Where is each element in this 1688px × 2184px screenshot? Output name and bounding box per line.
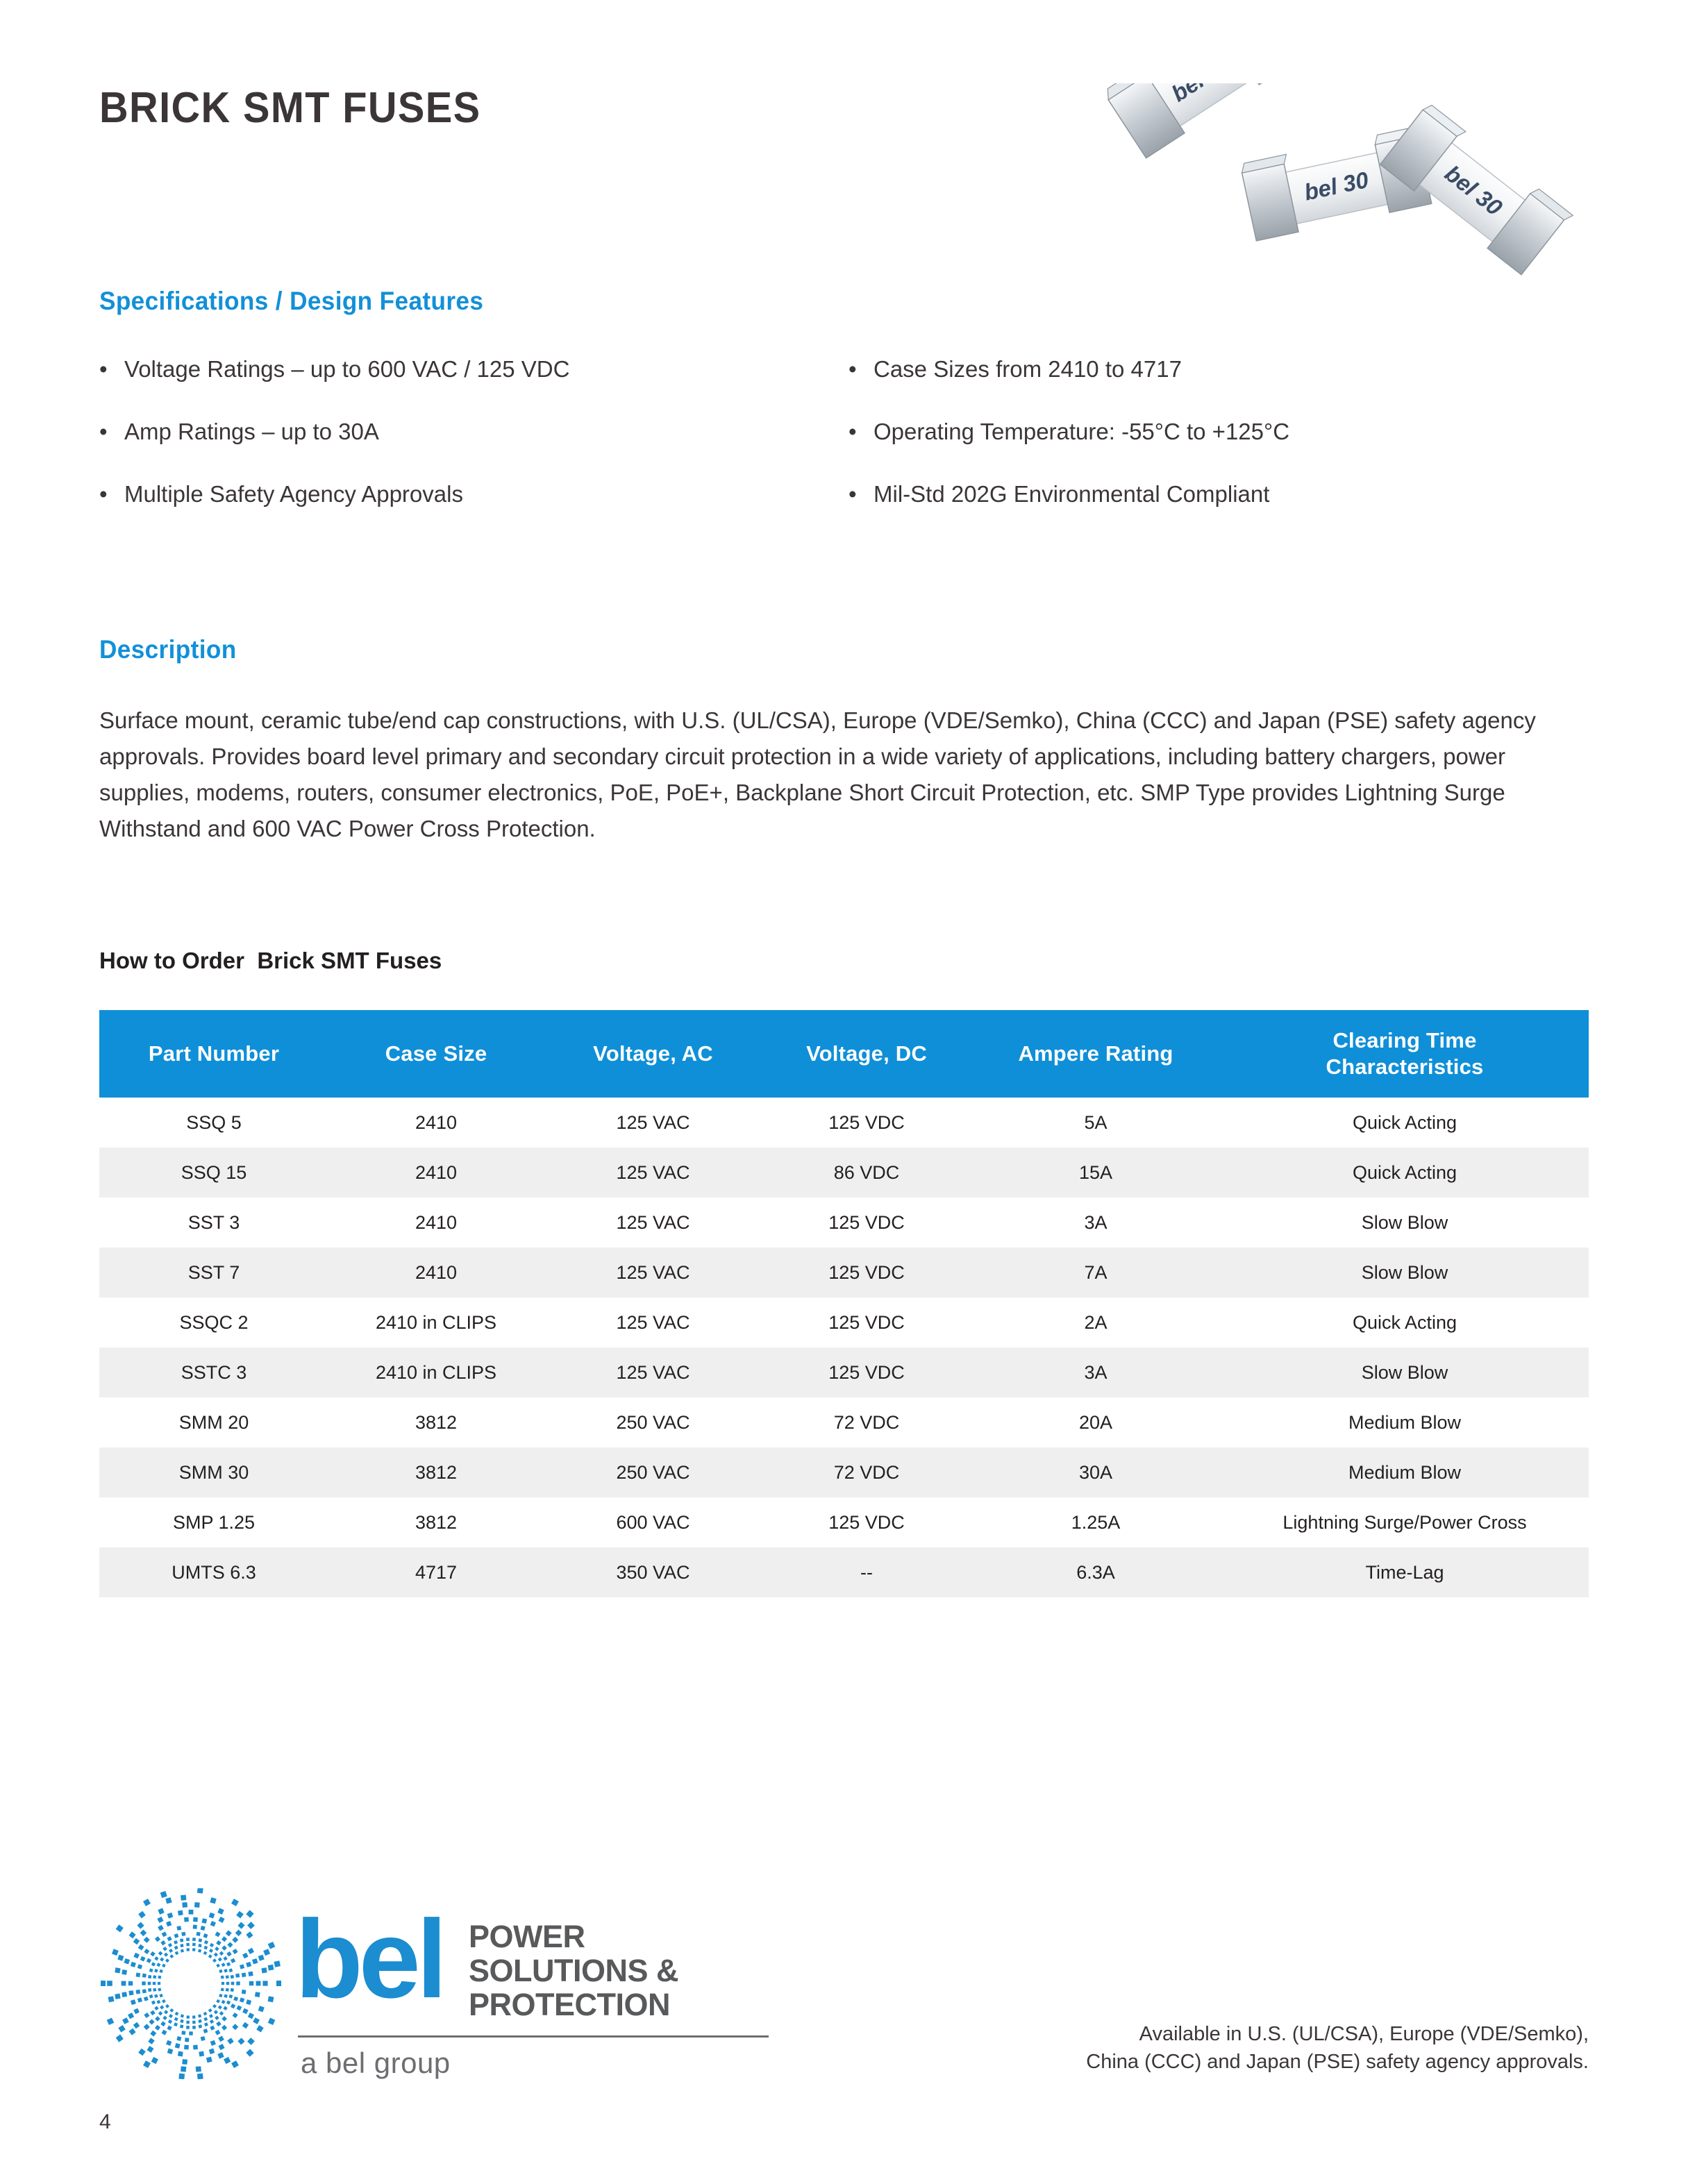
cell-voltage-ac: 350 VAC <box>544 1547 762 1597</box>
description-body: Surface mount, ceramic tube/end cap cons… <box>99 703 1592 847</box>
bullet-icon: • <box>99 355 108 383</box>
cell-ampere-rating: 15A <box>971 1148 1221 1198</box>
cell-voltage-dc: 125 VDC <box>762 1098 971 1148</box>
cell-ampere-rating: 20A <box>971 1397 1221 1447</box>
cell-case-size: 2410 <box>328 1248 544 1297</box>
cell-clearing-time: Quick Acting <box>1221 1098 1589 1148</box>
cell-clearing-time: Medium Blow <box>1221 1397 1589 1447</box>
cell-case-size: 2410 <box>328 1148 544 1198</box>
column-header-clearing-time: Clearing Time Characteristics <box>1221 1010 1589 1098</box>
cell-part-number: SMP 1.25 <box>99 1497 328 1547</box>
column-header-voltage-ac: Voltage, AC <box>544 1010 762 1098</box>
cell-voltage-dc: 125 VDC <box>762 1497 971 1547</box>
column-header-voltage-dc: Voltage, DC <box>762 1010 971 1098</box>
table-row: SSTC 32410 in CLIPS125 VAC125 VDC3ASlow … <box>99 1347 1589 1397</box>
bel-mosaic-mark-icon <box>101 1888 281 2079</box>
product-photo: bel 30 bel 30 bel 30 <box>1073 83 1621 312</box>
cell-clearing-time: Time-Lag <box>1221 1547 1589 1597</box>
list-item: •Multiple Safety Agency Approvals <box>99 480 569 508</box>
specifications-heading: Specifications / Design Features <box>99 287 483 316</box>
cell-voltage-ac: 125 VAC <box>544 1248 762 1297</box>
cell-voltage-dc: 72 VDC <box>762 1397 971 1447</box>
list-item-label: Voltage Ratings – up to 600 VAC / 125 VD… <box>124 356 569 382</box>
cell-clearing-time: Medium Blow <box>1221 1447 1589 1497</box>
bullet-icon: • <box>849 480 857 508</box>
cell-case-size: 2410 <box>328 1098 544 1148</box>
list-item-label: Case Sizes from 2410 to 4717 <box>874 356 1182 382</box>
table-row: UMTS 6.34717350 VAC--6.3ATime-Lag <box>99 1547 1589 1597</box>
list-item: •Mil-Std 202G Environmental Compliant <box>849 480 1289 508</box>
cell-voltage-ac: 125 VAC <box>544 1098 762 1148</box>
tagline-line2: SOLUTIONS & <box>469 1953 678 1988</box>
clearing-time-line1: Clearing Time <box>1332 1028 1476 1052</box>
cell-part-number: SMM 30 <box>99 1447 328 1497</box>
cell-clearing-time: Quick Acting <box>1221 1297 1589 1347</box>
column-header-case-size: Case Size <box>328 1010 544 1098</box>
table-row: SMP 1.253812600 VAC125 VDC1.25ALightning… <box>99 1497 1589 1547</box>
cell-part-number: SSQC 2 <box>99 1297 328 1347</box>
cell-part-number: SSQ 5 <box>99 1098 328 1148</box>
cell-part-number: SMM 20 <box>99 1397 328 1447</box>
bel-wordmark: bel <box>295 1904 443 2015</box>
cell-case-size: 3812 <box>328 1447 544 1497</box>
footer-line2: China (CCC) and Japan (PSE) safety agenc… <box>1086 2051 1589 2073</box>
bullet-icon: • <box>99 418 108 446</box>
table-header: Part Number Case Size Voltage, AC Voltag… <box>99 1010 1589 1098</box>
cell-voltage-ac: 125 VAC <box>544 1148 762 1198</box>
bullet-icon: • <box>99 480 108 508</box>
cell-voltage-dc: 86 VDC <box>762 1148 971 1198</box>
page-title: BRICK SMT FUSES <box>99 83 481 133</box>
cell-clearing-time: Slow Blow <box>1221 1347 1589 1397</box>
cell-clearing-time: Slow Blow <box>1221 1248 1589 1297</box>
cell-voltage-ac: 125 VAC <box>544 1198 762 1248</box>
brick-smt-fuses-illustration: bel 30 bel 30 bel 30 <box>1073 83 1621 312</box>
cell-case-size: 2410 in CLIPS <box>328 1297 544 1347</box>
list-item-label: Operating Temperature: -55°C to +125°C <box>874 419 1289 444</box>
column-header-ampere-rating: Ampere Rating <box>971 1010 1221 1098</box>
cell-part-number: UMTS 6.3 <box>99 1547 328 1597</box>
cell-part-number: SSQ 15 <box>99 1148 328 1198</box>
cell-case-size: 2410 <box>328 1198 544 1248</box>
bel-tagline: POWER SOLUTIONS & PROTECTION <box>469 1920 678 2022</box>
table-row: SSQ 52410125 VAC125 VDC5AQuick Acting <box>99 1098 1589 1148</box>
cell-voltage-ac: 125 VAC <box>544 1347 762 1397</box>
cell-part-number: SST 7 <box>99 1248 328 1297</box>
cell-voltage-dc: 125 VDC <box>762 1198 971 1248</box>
cell-voltage-ac: 250 VAC <box>544 1447 762 1497</box>
radial-mosaic-icon <box>101 1888 281 2079</box>
cell-voltage-dc: 125 VDC <box>762 1347 971 1397</box>
list-item-label: Multiple Safety Agency Approvals <box>124 481 463 507</box>
cell-ampere-rating: 7A <box>971 1248 1221 1297</box>
cell-voltage-dc: 72 VDC <box>762 1447 971 1497</box>
bel-logo: bel POWER SOLUTIONS & PROTECTION a bel g… <box>101 1888 837 2097</box>
cell-ampere-rating: 1.25A <box>971 1497 1221 1547</box>
cell-case-size: 3812 <box>328 1497 544 1547</box>
cell-case-size: 2410 in CLIPS <box>328 1347 544 1397</box>
clearing-time-line2: Characteristics <box>1326 1055 1483 1079</box>
footer-availability-note: Available in U.S. (UL/CSA), Europe (VDE/… <box>992 2020 1589 2076</box>
cell-ampere-rating: 3A <box>971 1347 1221 1397</box>
order-table: Part Number Case Size Voltage, AC Voltag… <box>99 1010 1589 1597</box>
table-row: SSQC 22410 in CLIPS125 VAC125 VDC2AQuick… <box>99 1297 1589 1347</box>
cell-ampere-rating: 2A <box>971 1297 1221 1347</box>
footer-line1: Available in U.S. (UL/CSA), Europe (VDE/… <box>1139 2023 1589 2045</box>
cell-clearing-time: Lightning Surge/Power Cross <box>1221 1497 1589 1547</box>
list-item: •Amp Ratings – up to 30A <box>99 418 569 446</box>
cell-voltage-ac: 600 VAC <box>544 1497 762 1547</box>
table-row: SMM 203812250 VAC72 VDC20AMedium Blow <box>99 1397 1589 1447</box>
cell-case-size: 4717 <box>328 1547 544 1597</box>
cell-voltage-dc: 125 VDC <box>762 1248 971 1297</box>
how-to-order-heading: How to Order Brick SMT Fuses <box>99 948 442 974</box>
bullet-icon: • <box>849 418 857 446</box>
list-item-label: Amp Ratings – up to 30A <box>124 419 379 444</box>
list-item: •Voltage Ratings – up to 600 VAC / 125 V… <box>99 355 569 383</box>
specifications-right-list: •Case Sizes from 2410 to 4717 •Operating… <box>849 355 1289 543</box>
cell-ampere-rating: 6.3A <box>971 1547 1221 1597</box>
table-row: SST 72410125 VAC125 VDC7ASlow Blow <box>99 1248 1589 1297</box>
page-number: 4 <box>99 2110 111 2134</box>
cell-voltage-ac: 125 VAC <box>544 1297 762 1347</box>
table-row: SSQ 152410125 VAC86 VDC15AQuick Acting <box>99 1148 1589 1198</box>
cell-voltage-dc: -- <box>762 1547 971 1597</box>
cell-case-size: 3812 <box>328 1397 544 1447</box>
cell-part-number: SST 3 <box>99 1198 328 1248</box>
cell-clearing-time: Quick Acting <box>1221 1148 1589 1198</box>
cell-clearing-time: Slow Blow <box>1221 1198 1589 1248</box>
cell-voltage-dc: 125 VDC <box>762 1297 971 1347</box>
column-header-part-number: Part Number <box>99 1010 328 1098</box>
list-item: •Case Sizes from 2410 to 4717 <box>849 355 1289 383</box>
list-item-label: Mil-Std 202G Environmental Compliant <box>874 481 1269 507</box>
cell-voltage-ac: 250 VAC <box>544 1397 762 1447</box>
list-item: •Operating Temperature: -55°C to +125°C <box>849 418 1289 446</box>
cell-ampere-rating: 3A <box>971 1198 1221 1248</box>
tagline-line3: PROTECTION <box>469 1987 670 2022</box>
specifications-left-list: •Voltage Ratings – up to 600 VAC / 125 V… <box>99 355 569 543</box>
tagline-line1: POWER <box>469 1919 585 1954</box>
table-row: SMM 303812250 VAC72 VDC30AMedium Blow <box>99 1447 1589 1497</box>
cell-ampere-rating: 5A <box>971 1098 1221 1148</box>
description-heading: Description <box>99 635 237 664</box>
cell-ampere-rating: 30A <box>971 1447 1221 1497</box>
table-row: SST 32410125 VAC125 VDC3ASlow Blow <box>99 1198 1589 1248</box>
logo-divider <box>298 2035 769 2038</box>
logo-sub-label: a bel group <box>301 2047 451 2080</box>
document-page: BRICK SMT FUSES <box>0 0 1688 2184</box>
cell-part-number: SSTC 3 <box>99 1347 328 1397</box>
table-body: SSQ 52410125 VAC125 VDC5AQuick ActingSSQ… <box>99 1098 1589 1597</box>
bullet-icon: • <box>849 355 857 383</box>
table-header-row: Part Number Case Size Voltage, AC Voltag… <box>99 1010 1589 1098</box>
